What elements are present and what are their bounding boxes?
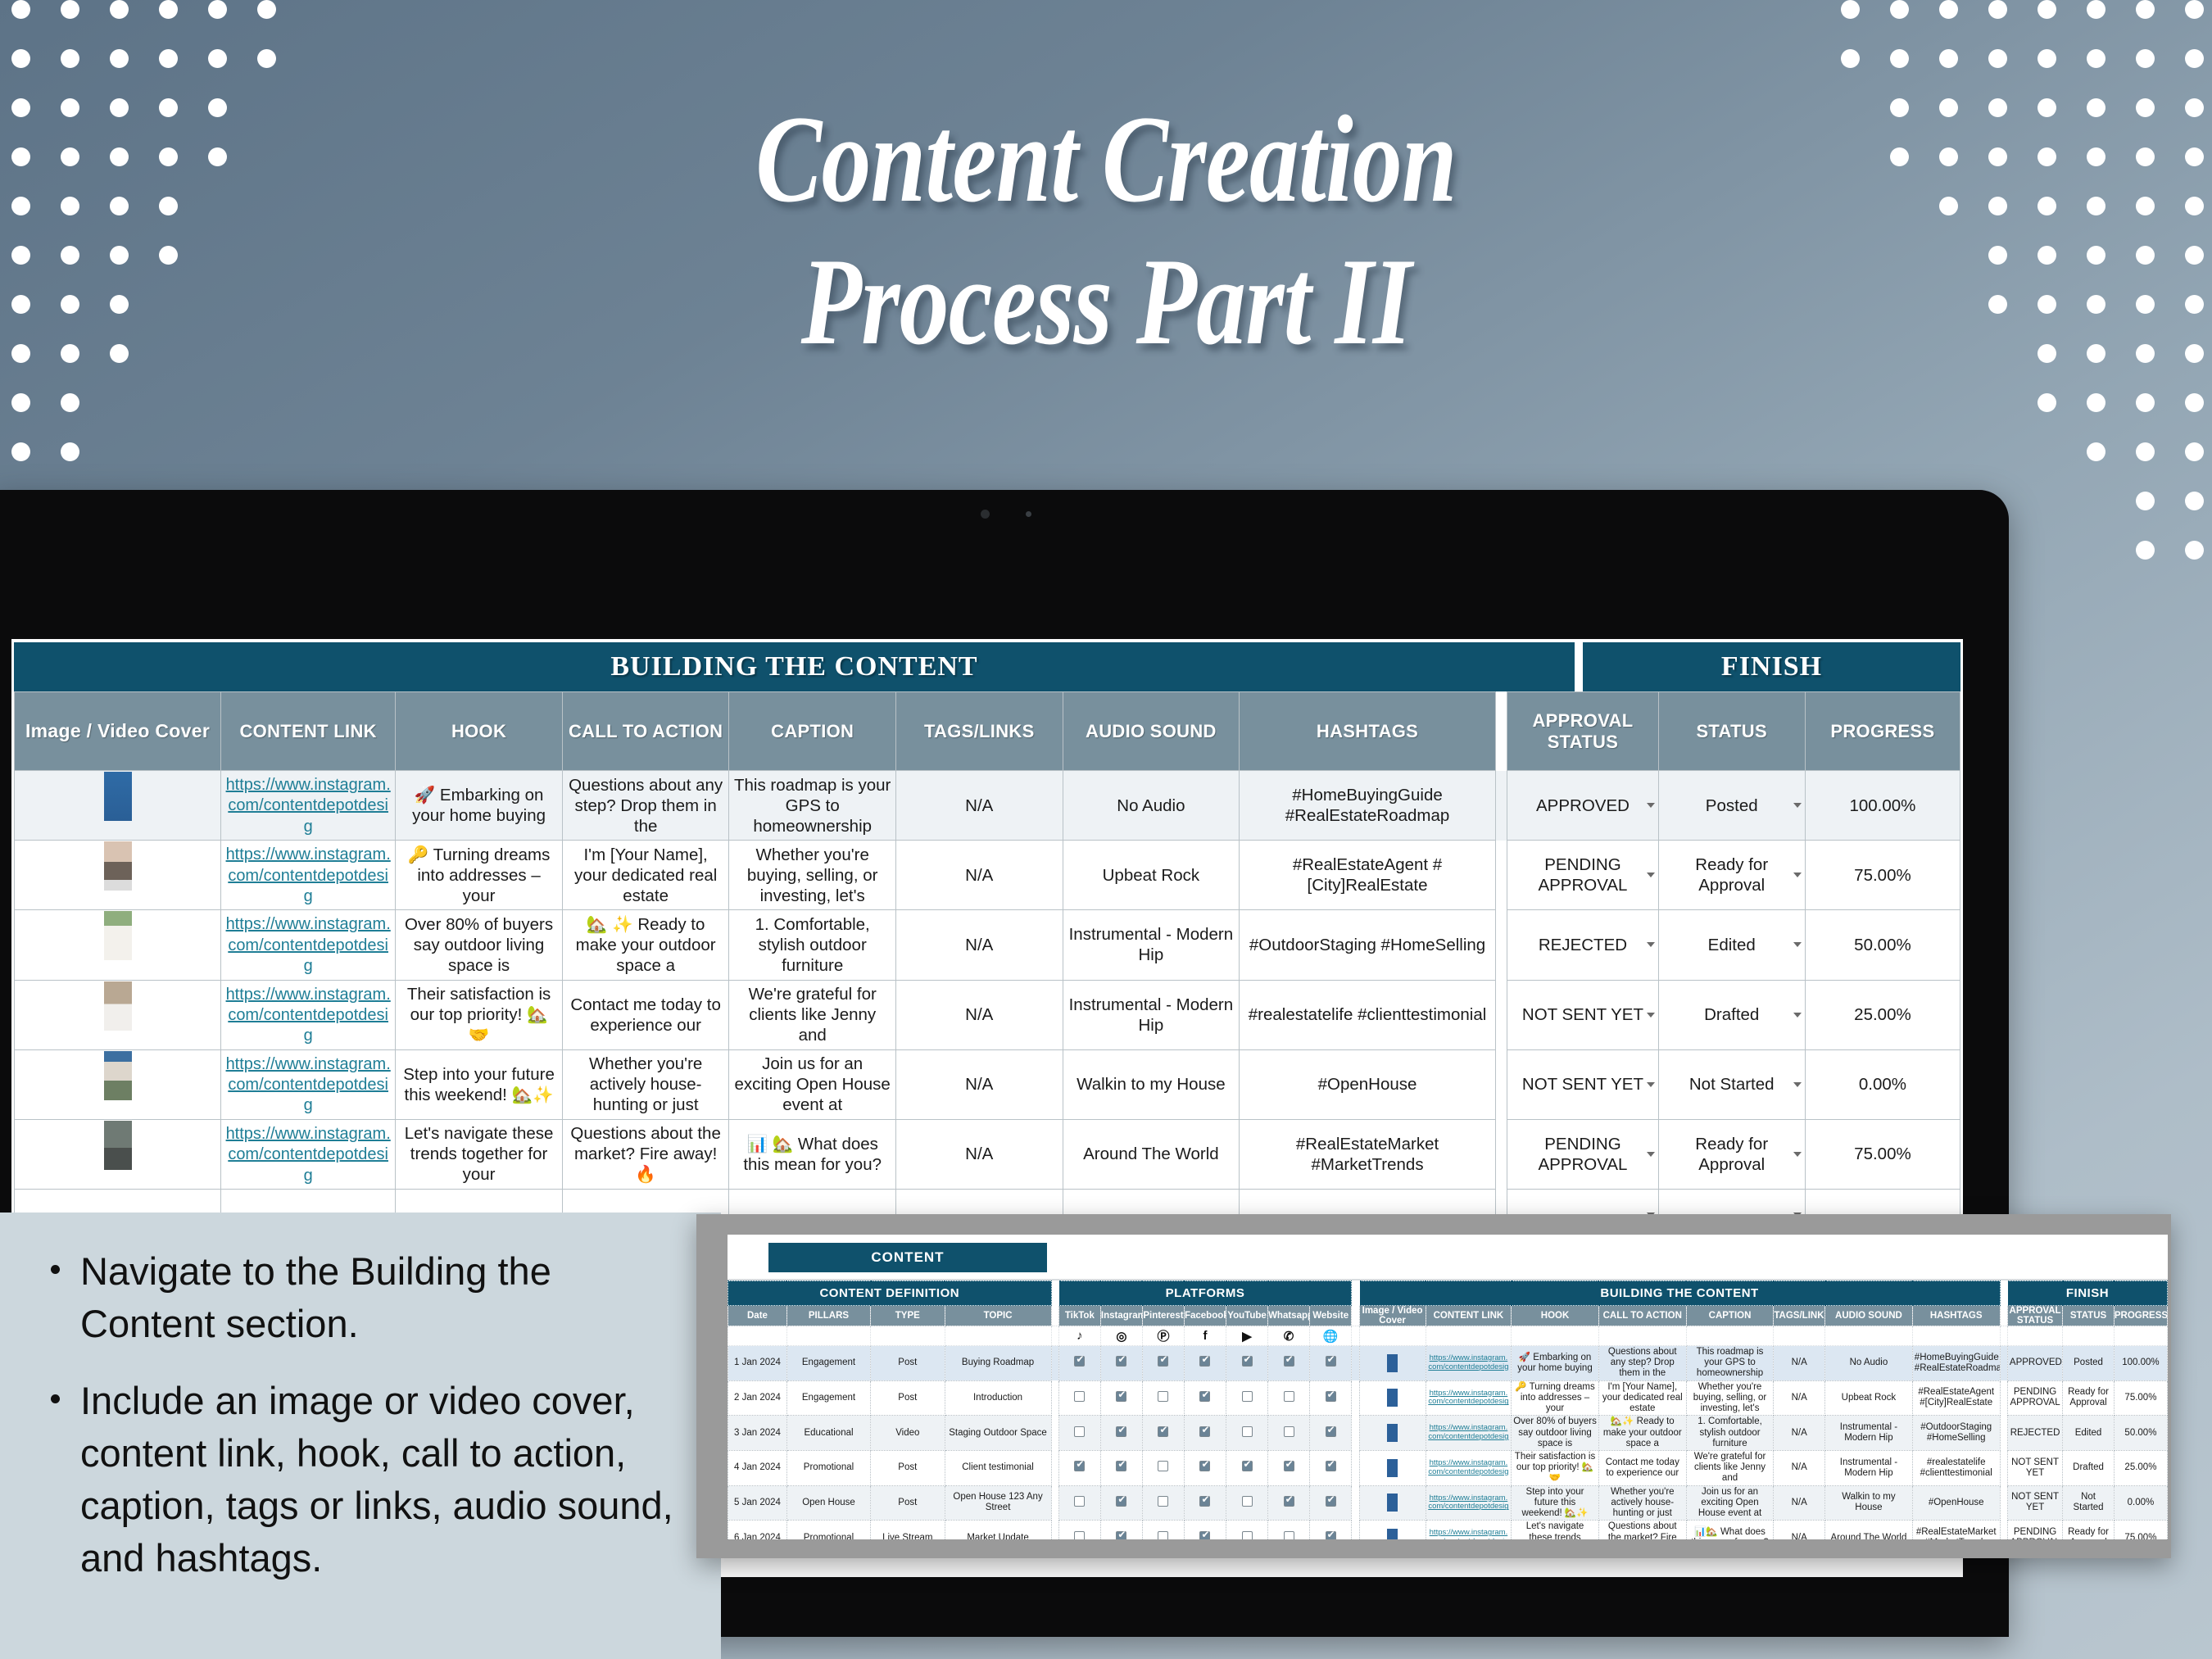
inset-cell-pillar[interactable]: Open House <box>786 1485 870 1521</box>
checkbox-icon[interactable] <box>1158 1531 1168 1540</box>
inset-checkbox-website[interactable] <box>1310 1380 1352 1416</box>
inset-cell-audio[interactable]: Instrumental - Modern Hip <box>1825 1416 1913 1451</box>
inset-col-whatsapp[interactable]: Whatsapp <box>1268 1306 1310 1326</box>
inset-cell-date[interactable]: 3 Jan 2024 <box>728 1416 787 1451</box>
inset-cell-cover[interactable] <box>1359 1346 1426 1381</box>
chevron-down-icon[interactable] <box>1647 1013 1655 1018</box>
cell-approval-status[interactable]: NOT SENT YET <box>1507 980 1658 1049</box>
decorative-dot <box>159 49 178 68</box>
inset-checkbox-pinterest[interactable] <box>1142 1485 1184 1521</box>
inset-col-finish[interactable]: APPROVAL STATUS <box>2007 1306 2062 1326</box>
inset-cell-status[interactable]: Drafted <box>2063 1450 2115 1485</box>
cell-tags-links[interactable]: N/A <box>895 1119 1063 1189</box>
inset-cell-topic[interactable]: Introduction <box>945 1380 1051 1416</box>
inset-checkbox-website[interactable] <box>1310 1416 1352 1451</box>
col-header-image-video-cover[interactable]: Image / Video Cover <box>15 692 221 771</box>
checkbox-icon[interactable] <box>1242 1531 1253 1540</box>
cell-hashtags[interactable]: #OutdoorStaging #HomeSelling <box>1240 910 1496 980</box>
checkbox-icon[interactable] <box>1326 1426 1336 1437</box>
inset-cell-approval[interactable]: APPROVED <box>2007 1346 2062 1381</box>
cell-audio-sound[interactable]: No Audio <box>1063 771 1240 841</box>
checkbox-icon[interactable] <box>1242 1356 1253 1367</box>
checkbox-icon[interactable] <box>1199 1531 1210 1540</box>
checkbox-icon[interactable] <box>1074 1461 1085 1471</box>
inset-cell-cta[interactable]: Questions about the market? Fire away! 🔥 <box>1598 1521 1686 1539</box>
inset-cell-hashtags[interactable]: #RealEstateMarket #MarketTrends <box>1912 1521 2000 1539</box>
checkbox-icon[interactable] <box>1326 1391 1336 1402</box>
inset-cell-cta[interactable]: 🏡✨ Ready to make your outdoor space a <box>1598 1416 1686 1451</box>
inset-cell-progress[interactable]: 75.00% <box>2114 1521 2167 1539</box>
inset-cell-topic[interactable]: Client testimonial <box>945 1450 1051 1485</box>
cell-hook[interactable]: 🔑 Turning dreams into addresses – your <box>396 841 563 910</box>
inset-checkbox-tiktok[interactable] <box>1058 1380 1100 1416</box>
checkbox-icon[interactable] <box>1116 1426 1126 1437</box>
chevron-down-icon[interactable] <box>1793 1013 1802 1018</box>
cell-caption[interactable]: This roadmap is your GPS to homeownershi… <box>729 771 896 841</box>
inset-checkbox-youtube[interactable] <box>1226 1450 1268 1485</box>
cell-caption[interactable]: 1. Comfortable, stylish outdoor furnitur… <box>729 910 896 980</box>
checkbox-icon[interactable] <box>1158 1391 1168 1402</box>
inset-cell-tags[interactable]: N/A <box>1774 1380 1825 1416</box>
inset-cell-status[interactable]: Edited <box>2063 1416 2115 1451</box>
checkbox-icon[interactable] <box>1284 1391 1294 1402</box>
col-header-hashtags[interactable]: HASHTAGS <box>1240 692 1496 771</box>
cell-tags-links[interactable]: N/A <box>895 910 1063 980</box>
col-header-content-link[interactable]: CONTENT LINK <box>221 692 396 771</box>
checkbox-icon[interactable] <box>1199 1356 1210 1367</box>
inset-cell-status[interactable]: Not Started <box>2063 1485 2115 1521</box>
cell-content-link[interactable]: https://www.instagram.com/contentdepotde… <box>221 910 396 980</box>
inset-cell-link[interactable]: https://www.instagram.com/contentdepotde… <box>1426 1346 1511 1381</box>
inset-cell-date[interactable]: 1 Jan 2024 <box>728 1346 787 1381</box>
chevron-down-icon[interactable] <box>1793 1152 1802 1157</box>
inset-cell-approval[interactable]: NOT SENT YET <box>2007 1485 2062 1521</box>
inset-checkbox-facebook[interactable] <box>1184 1521 1226 1539</box>
inset-cell-date[interactable]: 4 Jan 2024 <box>728 1450 787 1485</box>
checkbox-icon[interactable] <box>1326 1531 1336 1540</box>
col-header-tags-links[interactable]: TAGS/LINKS <box>895 692 1063 771</box>
cell-content-link[interactable]: https://www.instagram.com/contentdepotde… <box>221 1119 396 1189</box>
inset-cell-caption[interactable]: 📊🏡 What does this mean for you? <box>1686 1521 1774 1539</box>
cell-audio-sound[interactable]: Walkin to my House <box>1063 1049 1240 1119</box>
inset-cell-approval[interactable]: REJECTED <box>2007 1416 2062 1451</box>
inset-col-youtube[interactable]: YouTube <box>1226 1306 1268 1326</box>
inset-cell-date[interactable]: 5 Jan 2024 <box>728 1485 787 1521</box>
inset-cell-link[interactable]: https://www.instagram.com/contentdepotde… <box>1426 1416 1511 1451</box>
cell-call-to-action[interactable]: Whether you're actively house-hunting or… <box>562 1049 729 1119</box>
cell-hook[interactable]: 🚀 Embarking on your home buying <box>396 771 563 841</box>
inset-checkbox-pinterest[interactable] <box>1142 1346 1184 1381</box>
decorative-dot <box>11 49 30 68</box>
checkbox-icon[interactable] <box>1199 1496 1210 1507</box>
cell-hook[interactable]: Over 80% of buyers say outdoor living sp… <box>396 910 563 980</box>
cell-caption[interactable]: 📊 🏡 What does this mean for you? <box>729 1119 896 1189</box>
inset-cell-date[interactable]: 2 Jan 2024 <box>728 1380 787 1416</box>
inset-cell-topic[interactable]: Open House 123 Any Street <box>945 1485 1051 1521</box>
chevron-down-icon[interactable] <box>1793 803 1802 808</box>
checkbox-icon[interactable] <box>1074 1391 1085 1402</box>
inset-col-building[interactable]: CAPTION <box>1686 1306 1774 1326</box>
inset-cell-status[interactable]: Ready for Approval <box>2063 1521 2115 1539</box>
inset-cell-hook[interactable]: 🔑 Turning dreams into addresses – your <box>1512 1380 1599 1416</box>
checkbox-icon[interactable] <box>1284 1531 1294 1540</box>
cell-progress[interactable]: 75.00% <box>1805 841 1960 910</box>
inset-checkbox-tiktok[interactable] <box>1058 1416 1100 1451</box>
checkbox-icon[interactable] <box>1158 1496 1168 1507</box>
cell-progress[interactable]: 75.00% <box>1805 1119 1960 1189</box>
inset-cell-approval[interactable]: NOT SENT YET <box>2007 1450 2062 1485</box>
inset-cell-tags[interactable]: N/A <box>1774 1416 1825 1451</box>
col-header-progress[interactable]: PROGRESS <box>1805 692 1960 771</box>
inset-cell-link[interactable]: https://www.instagram.com/contentdepotde… <box>1426 1521 1511 1539</box>
inset-col-building[interactable]: CONTENT LINK <box>1426 1306 1511 1326</box>
inset-cell-pillar[interactable]: Educational <box>786 1416 870 1451</box>
cell-call-to-action[interactable]: Questions about the market? Fire away! 🔥 <box>562 1119 729 1189</box>
cell-call-to-action[interactable]: Contact me today to experience our <box>562 980 729 1049</box>
inset-cell-hook[interactable]: Step into your future this weekend! 🏡✨ <box>1512 1485 1599 1521</box>
inset-checkbox-youtube[interactable] <box>1226 1346 1268 1381</box>
inset-checkbox-facebook[interactable] <box>1184 1485 1226 1521</box>
inset-cell-status[interactable]: Posted <box>2063 1346 2115 1381</box>
cell-approval-status[interactable]: APPROVED <box>1507 771 1658 841</box>
inset-cell-progress[interactable]: 100.00% <box>2114 1346 2167 1381</box>
chevron-down-icon[interactable] <box>1647 1152 1655 1157</box>
inset-cell-link[interactable]: https://www.instagram.com/contentdepotde… <box>1426 1380 1511 1416</box>
inset-cell-pillar[interactable]: Promotional <box>786 1521 870 1539</box>
inset-cell-tags[interactable]: N/A <box>1774 1485 1825 1521</box>
inset-cell-type[interactable]: Post <box>871 1380 945 1416</box>
inset-cell-pillar[interactable]: Engagement <box>786 1380 870 1416</box>
cell-hashtags[interactable]: #RealEstateAgent #[City]RealEstate <box>1240 841 1496 910</box>
checkbox-icon[interactable] <box>1242 1461 1253 1471</box>
cell-hook[interactable]: Their satisfaction is our top priority! … <box>396 980 563 1049</box>
inset-checkbox-tiktok[interactable] <box>1058 1521 1100 1539</box>
inset-col-finish[interactable]: STATUS <box>2063 1306 2115 1326</box>
inset-cell-status[interactable]: Ready for Approval <box>2063 1380 2115 1416</box>
inset-cell-hashtags[interactable]: #HomeBuyingGuide #RealEstateRoadmap <box>1912 1346 2000 1381</box>
col-header-audio-sound[interactable]: AUDIO SOUND <box>1063 692 1240 771</box>
inset-cell-topic[interactable]: Market Update <box>945 1521 1051 1539</box>
cell-status[interactable]: Ready for Approval <box>1658 841 1805 910</box>
inset-col-building[interactable]: Image / Video Cover <box>1359 1306 1426 1326</box>
inset-cell-audio[interactable]: No Audio <box>1825 1346 1913 1381</box>
cell-status[interactable]: Drafted <box>1658 980 1805 1049</box>
cell-tags-links[interactable]: N/A <box>895 1049 1063 1119</box>
inset-cell-audio[interactable]: Walkin to my House <box>1825 1485 1913 1521</box>
cell-audio-sound[interactable]: Instrumental - Modern Hip <box>1063 980 1240 1049</box>
col-header-call-to-action[interactable]: CALL TO ACTION <box>562 692 729 771</box>
inset-cell-hook[interactable]: Let's navigate these trends together for… <box>1512 1521 1599 1539</box>
inset-cell-audio[interactable]: Upbeat Rock <box>1825 1380 1913 1416</box>
inset-cell-tags[interactable]: N/A <box>1774 1346 1825 1381</box>
cell-hashtags[interactable]: #HomeBuyingGuide #RealEstateRoadmap <box>1240 771 1496 841</box>
checkbox-icon[interactable] <box>1074 1531 1085 1540</box>
cell-content-link[interactable]: https://www.instagram.com/contentdepotde… <box>221 841 396 910</box>
content-link[interactable]: https://www.instagram.com/contentdepotde… <box>226 1055 391 1115</box>
inset-checkbox-tiktok[interactable] <box>1058 1485 1100 1521</box>
inset-cell-date[interactable]: 6 Jan 2024 <box>728 1521 787 1539</box>
inset-col-facebook[interactable]: Facebook <box>1184 1306 1226 1326</box>
cell-tags-links[interactable]: N/A <box>895 841 1063 910</box>
inset-col-pillars[interactable]: PILLARS <box>786 1306 870 1326</box>
inset-col-instagram[interactable]: Instagram <box>1100 1306 1142 1326</box>
cell-call-to-action[interactable]: Questions about any step? Drop them in t… <box>562 771 729 841</box>
inset-cell-type[interactable]: Video <box>871 1416 945 1451</box>
cell-progress[interactable]: 25.00% <box>1805 980 1960 1049</box>
inset-cell-pillar[interactable]: Engagement <box>786 1346 870 1381</box>
inset-checkbox-youtube[interactable] <box>1226 1485 1268 1521</box>
checkbox-icon[interactable] <box>1116 1356 1126 1367</box>
inset-col-tiktok[interactable]: TikTok <box>1058 1306 1100 1326</box>
inset-cell-cta[interactable]: Questions about any step? Drop them in t… <box>1598 1346 1686 1381</box>
inset-cell-progress[interactable]: 50.00% <box>2114 1416 2167 1451</box>
cell-image-video-cover[interactable] <box>15 980 221 1049</box>
cell-call-to-action[interactable]: I'm [Your Name], your dedicated real est… <box>562 841 729 910</box>
inset-cell-hashtags[interactable]: #OpenHouse <box>1912 1485 2000 1521</box>
inset-checkbox-whatsapp[interactable] <box>1268 1485 1310 1521</box>
inset-checkbox-facebook[interactable] <box>1184 1380 1226 1416</box>
checkbox-icon[interactable] <box>1284 1496 1294 1507</box>
checkbox-icon[interactable] <box>1158 1356 1168 1367</box>
inset-cell-audio[interactable]: Instrumental - Modern Hip <box>1825 1450 1913 1485</box>
inset-cell-link[interactable]: https://www.instagram.com/contentdepotde… <box>1426 1485 1511 1521</box>
inset-cell-cover[interactable] <box>1359 1450 1426 1485</box>
inset-cell-progress[interactable]: 75.00% <box>2114 1380 2167 1416</box>
cell-audio-sound[interactable]: Around The World <box>1063 1119 1240 1189</box>
checkbox-icon[interactable] <box>1199 1391 1210 1402</box>
cell-approval-status[interactable]: REJECTED <box>1507 910 1658 980</box>
chevron-down-icon[interactable] <box>1793 1082 1802 1087</box>
cell-approval-status[interactable]: PENDING APPROVAL <box>1507 841 1658 910</box>
cell-approval-status[interactable]: PENDING APPROVAL <box>1507 1119 1658 1189</box>
inset-cell-tags[interactable]: N/A <box>1774 1521 1825 1539</box>
checkbox-icon[interactable] <box>1158 1461 1168 1471</box>
inset-checkbox-facebook[interactable] <box>1184 1346 1226 1381</box>
inset-cell-hook[interactable]: Over 80% of buyers say outdoor living sp… <box>1512 1416 1599 1451</box>
checkbox-icon[interactable] <box>1116 1496 1126 1507</box>
cell-progress[interactable]: 0.00% <box>1805 1049 1960 1119</box>
cell-image-video-cover[interactable] <box>15 1049 221 1119</box>
chevron-down-icon[interactable] <box>1793 873 1802 877</box>
inset-checkbox-instagram[interactable] <box>1100 1416 1142 1451</box>
checkbox-icon[interactable] <box>1116 1391 1126 1402</box>
cell-image-video-cover[interactable] <box>15 910 221 980</box>
inset-checkbox-website[interactable] <box>1310 1450 1352 1485</box>
inset-checkbox-whatsapp[interactable] <box>1268 1416 1310 1451</box>
inset-checkbox-pinterest[interactable] <box>1142 1416 1184 1451</box>
cell-image-video-cover[interactable] <box>15 1119 221 1189</box>
cell-hashtags[interactable]: #realestatelife #clienttestimonial <box>1240 980 1496 1049</box>
inset-checkbox-website[interactable] <box>1310 1521 1352 1539</box>
section-gap <box>1495 910 1507 980</box>
checkbox-icon[interactable] <box>1199 1461 1210 1471</box>
inset-col-topic[interactable]: TOPIC <box>945 1306 1051 1326</box>
inset-cell-progress[interactable]: 25.00% <box>2114 1450 2167 1485</box>
decorative-dot <box>2185 49 2204 68</box>
decorative-dot <box>2185 442 2204 461</box>
inset-cell-type[interactable]: Post <box>871 1346 945 1381</box>
inset-col-type[interactable]: TYPE <box>871 1306 945 1326</box>
inset-cell-link[interactable]: https://www.instagram.com/contentdepotde… <box>1426 1450 1511 1485</box>
inset-cell-cta[interactable]: Whether you're actively house-hunting or… <box>1598 1485 1686 1521</box>
inset-checkbox-youtube[interactable] <box>1226 1416 1268 1451</box>
cell-status[interactable]: Not Started <box>1658 1049 1805 1119</box>
cell-content-link[interactable]: https://www.instagram.com/contentdepotde… <box>221 1049 396 1119</box>
inset-cell-progress[interactable]: 0.00% <box>2114 1485 2167 1521</box>
inset-cell-approval[interactable]: PENDING APPROVAL <box>2007 1521 2062 1539</box>
cell-call-to-action[interactable]: 🏡 ✨ Ready to make your outdoor space a <box>562 910 729 980</box>
inset-cell-caption[interactable]: Join us for an exciting Open House event… <box>1686 1485 1774 1521</box>
inset-col-building[interactable]: AUDIO SOUND <box>1825 1306 1913 1326</box>
inset-cell-type[interactable]: Post <box>871 1485 945 1521</box>
inset-checkbox-tiktok[interactable] <box>1058 1450 1100 1485</box>
inset-cell-cta[interactable]: I'm [Your Name], your dedicated real est… <box>1598 1380 1686 1416</box>
inset-col-finish[interactable]: PROGRESS <box>2114 1306 2167 1326</box>
col-header-status[interactable]: STATUS <box>1658 692 1805 771</box>
cell-tags-links[interactable]: N/A <box>895 980 1063 1049</box>
inset-cell-hook[interactable]: Their satisfaction is our top priority! … <box>1512 1450 1599 1485</box>
inset-col-date[interactable]: Date <box>728 1306 787 1326</box>
col-header-approval-status[interactable]: APPROVAL STATUS <box>1507 692 1658 771</box>
inset-checkbox-pinterest[interactable] <box>1142 1450 1184 1485</box>
checkbox-icon[interactable] <box>1242 1496 1253 1507</box>
col-header-caption[interactable]: CAPTION <box>729 692 896 771</box>
checkbox-icon[interactable] <box>1242 1391 1253 1402</box>
inset-checkbox-whatsapp[interactable] <box>1268 1380 1310 1416</box>
checkbox-icon[interactable] <box>1199 1426 1210 1437</box>
inset-checkbox-youtube[interactable] <box>1226 1380 1268 1416</box>
inset-checkbox-instagram[interactable] <box>1100 1521 1142 1539</box>
inset-checkbox-tiktok[interactable] <box>1058 1346 1100 1381</box>
cell-caption[interactable]: Whether you're buying, selling, or inves… <box>729 841 896 910</box>
chevron-down-icon[interactable] <box>1647 1082 1655 1087</box>
inset-gap <box>1352 1346 1359 1381</box>
inset-checkbox-facebook[interactable] <box>1184 1450 1226 1485</box>
chevron-down-icon[interactable] <box>1647 803 1655 808</box>
checkbox-icon[interactable] <box>1116 1461 1126 1471</box>
chevron-down-icon[interactable] <box>1647 942 1655 947</box>
cell-progress[interactable]: 100.00% <box>1805 771 1960 841</box>
cell-status[interactable]: Edited <box>1658 910 1805 980</box>
inset-col-pinterest[interactable]: Pinterest <box>1142 1306 1184 1326</box>
inset-cell-audio[interactable]: Around The World <box>1825 1521 1913 1539</box>
inset-cell-caption[interactable]: Whether you're buying, selling, or inves… <box>1686 1380 1774 1416</box>
checkbox-icon[interactable] <box>1284 1356 1294 1367</box>
inset-cell-cover[interactable] <box>1359 1485 1426 1521</box>
inset-cell-hashtags[interactable]: #RealEstateAgent #[City]RealEstate <box>1912 1380 2000 1416</box>
inset-checkbox-pinterest[interactable] <box>1142 1521 1184 1539</box>
checkbox-icon[interactable] <box>1158 1426 1168 1437</box>
inset-checkbox-instagram[interactable] <box>1100 1380 1142 1416</box>
cell-hashtags[interactable]: #RealEstateMarket #MarketTrends <box>1240 1119 1496 1189</box>
inset-checkbox-pinterest[interactable] <box>1142 1380 1184 1416</box>
inset-col-building[interactable]: HOOK <box>1512 1306 1599 1326</box>
inset-cell-hashtags[interactable]: #OutdoorStaging #HomeSelling <box>1912 1416 2000 1451</box>
checkbox-icon[interactable] <box>1116 1531 1126 1540</box>
inset-cell-cover[interactable] <box>1359 1521 1426 1539</box>
checkbox-icon[interactable] <box>1284 1461 1294 1471</box>
inset-cell-type[interactable]: Live Stream <box>871 1521 945 1539</box>
checkbox-icon[interactable] <box>1242 1426 1253 1437</box>
checkbox-icon[interactable] <box>1074 1356 1085 1367</box>
checkbox-icon[interactable] <box>1326 1496 1336 1507</box>
checkbox-icon[interactable] <box>1326 1461 1336 1471</box>
inset-checkbox-facebook[interactable] <box>1184 1416 1226 1451</box>
content-link[interactable]: https://www.instagram.com/contentdepotde… <box>226 915 391 975</box>
cell-hashtags[interactable]: #OpenHouse <box>1240 1049 1496 1119</box>
inset-checkbox-whatsapp[interactable] <box>1268 1346 1310 1381</box>
checkbox-icon[interactable] <box>1284 1426 1294 1437</box>
cell-tags-links[interactable]: N/A <box>895 771 1063 841</box>
checkbox-icon[interactable] <box>1074 1496 1085 1507</box>
inset-col-website[interactable]: Website <box>1310 1306 1352 1326</box>
cell-status[interactable]: Ready for Approval <box>1658 1119 1805 1189</box>
cell-audio-sound[interactable]: Upbeat Rock <box>1063 841 1240 910</box>
content-link[interactable]: https://www.instagram.com/contentdepotde… <box>226 845 391 905</box>
inset-col-building[interactable]: CALL TO ACTION <box>1598 1306 1686 1326</box>
inset-checkbox-instagram[interactable] <box>1100 1450 1142 1485</box>
cell-audio-sound[interactable]: Instrumental - Modern Hip <box>1063 910 1240 980</box>
inset-cell-topic[interactable]: Buying Roadmap <box>945 1346 1051 1381</box>
inset-cell-pillar[interactable]: Promotional <box>786 1450 870 1485</box>
inset-checkbox-whatsapp[interactable] <box>1268 1450 1310 1485</box>
inset-checkbox-youtube[interactable] <box>1226 1521 1268 1539</box>
inset-cell-approval[interactable]: PENDING APPROVAL <box>2007 1380 2062 1416</box>
cell-caption[interactable]: We're grateful for clients like Jenny an… <box>729 980 896 1049</box>
cell-content-link[interactable]: https://www.instagram.com/contentdepotde… <box>221 771 396 841</box>
checkbox-icon[interactable] <box>1326 1356 1336 1367</box>
inset-cell-cover[interactable] <box>1359 1380 1426 1416</box>
chevron-down-icon[interactable] <box>1793 942 1802 947</box>
inset-checkbox-instagram[interactable] <box>1100 1485 1142 1521</box>
inset-cell-type[interactable]: Post <box>871 1450 945 1485</box>
inset-cell-cta[interactable]: Contact me today to experience our <box>1598 1450 1686 1485</box>
checkbox-icon[interactable] <box>1074 1426 1085 1437</box>
inset-checkbox-website[interactable] <box>1310 1485 1352 1521</box>
inset-icon-blank <box>786 1326 870 1346</box>
inset-table: CONTENT DEFINITION PLATFORMS BUILDING TH… <box>728 1281 2168 1539</box>
col-header-hook[interactable]: HOOK <box>396 692 563 771</box>
inset-checkbox-instagram[interactable] <box>1100 1346 1142 1381</box>
inset-col-building[interactable]: HASHTAGS <box>1912 1306 2000 1326</box>
inset-checkbox-website[interactable] <box>1310 1346 1352 1381</box>
cell-content-link[interactable]: https://www.instagram.com/contentdepotde… <box>221 980 396 1049</box>
inset-checkbox-whatsapp[interactable] <box>1268 1521 1310 1539</box>
cell-caption[interactable]: Join us for an exciting Open House event… <box>729 1049 896 1119</box>
cell-hook[interactable]: Let's navigate these trends together for… <box>396 1119 563 1189</box>
content-link[interactable]: https://www.instagram.com/contentdepotde… <box>226 1125 391 1185</box>
cell-approval-status[interactable]: NOT SENT YET <box>1507 1049 1658 1119</box>
inset-cell-cover[interactable] <box>1359 1416 1426 1451</box>
inset-cell-hashtags[interactable]: #realestatelife #clienttestimonial <box>1912 1450 2000 1485</box>
inset-cell-caption[interactable]: 1. Comfortable, stylish outdoor furnitur… <box>1686 1416 1774 1451</box>
inset-cell-caption[interactable]: This roadmap is your GPS to homeownershi… <box>1686 1346 1774 1381</box>
chevron-down-icon[interactable] <box>1647 873 1655 877</box>
cover-thumbnail-image <box>1387 1494 1398 1512</box>
cell-progress[interactable]: 50.00% <box>1805 910 1960 980</box>
inset-cell-hook[interactable]: 🚀 Embarking on your home buying <box>1512 1346 1599 1381</box>
inset-cell-caption[interactable]: We're grateful for clients like Jenny an… <box>1686 1450 1774 1485</box>
cell-status[interactable]: Posted <box>1658 771 1805 841</box>
inset-cell-topic[interactable]: Staging Outdoor Space <box>945 1416 1051 1451</box>
cell-image-video-cover[interactable] <box>15 841 221 910</box>
content-link[interactable]: https://www.instagram.com/contentdepotde… <box>226 776 391 836</box>
content-link[interactable]: https://www.instagram.com/contentdepotde… <box>226 986 391 1045</box>
inset-col-building[interactable]: TAGS/LINKS <box>1774 1306 1825 1326</box>
cell-hook[interactable]: Step into your future this weekend! 🏡✨ <box>396 1049 563 1119</box>
cell-image-video-cover[interactable] <box>15 771 221 841</box>
inset-cell-tags[interactable]: N/A <box>1774 1450 1825 1485</box>
